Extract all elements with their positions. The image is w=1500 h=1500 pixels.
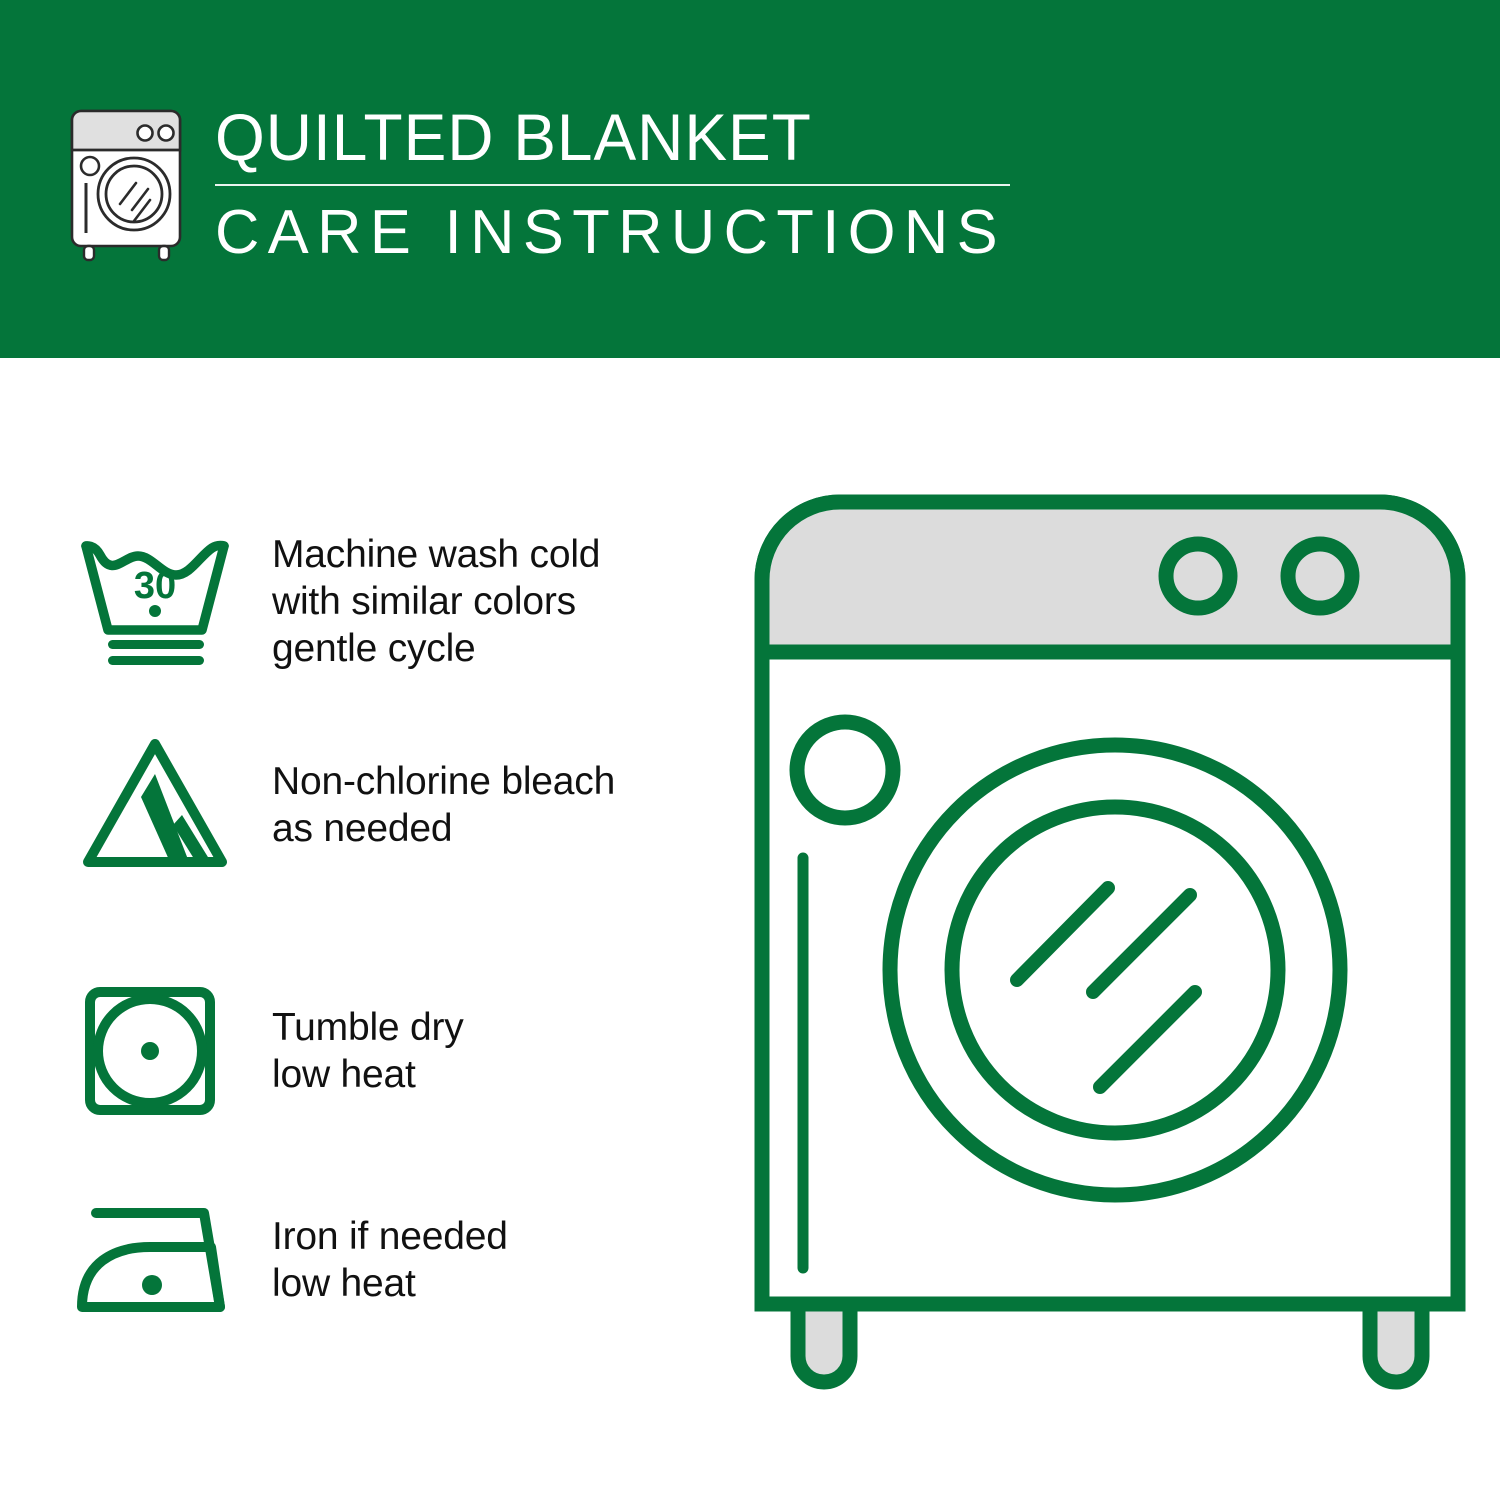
wash-temp-value: 30 — [134, 565, 176, 607]
care-row: Non-chlorine bleach as needed — [0, 710, 740, 900]
care-row: Tumble dry low heat — [0, 956, 740, 1146]
page-title: QUILTED BLANKET — [215, 100, 1001, 174]
care-instructions-page: QUILTED BLANKET CARE INSTRUCTIONS 30 — [0, 0, 1500, 1500]
control-knob — [1166, 544, 1230, 608]
care-label: Iron if needed low heat — [272, 1213, 740, 1307]
control-knob — [1288, 544, 1352, 608]
iron-low-heat-icon — [62, 1185, 262, 1335]
header-banner: QUILTED BLANKET CARE INSTRUCTIONS — [0, 0, 1500, 358]
washing-machine-icon — [62, 103, 197, 263]
care-row: 30 Machine wash cold with similar colors… — [0, 506, 740, 696]
care-label: Machine wash cold with similar colors ge… — [272, 531, 740, 672]
page-subtitle: CARE INSTRUCTIONS — [215, 198, 1017, 268]
front-load-washing-machine-illustration — [740, 480, 1480, 1420]
washer-leg — [798, 1304, 850, 1382]
care-row: Iron if needed low heat — [0, 1170, 740, 1350]
title-divider — [215, 184, 1010, 186]
non-chlorine-bleach-triangle-icon — [62, 730, 262, 880]
wash-tub-30-gentle-icon: 30 — [62, 526, 262, 676]
care-instructions-list: 30 Machine wash cold with similar colors… — [0, 358, 740, 1500]
tumble-dry-low-heat-icon — [62, 976, 262, 1126]
header-text-block: QUILTED BLANKET CARE INSTRUCTIONS — [215, 100, 1025, 268]
care-label: Non-chlorine bleach as needed — [272, 758, 740, 852]
detergent-dispenser — [797, 722, 893, 818]
washer-leg — [1370, 1304, 1422, 1382]
care-label: Tumble dry low heat — [272, 1004, 740, 1098]
